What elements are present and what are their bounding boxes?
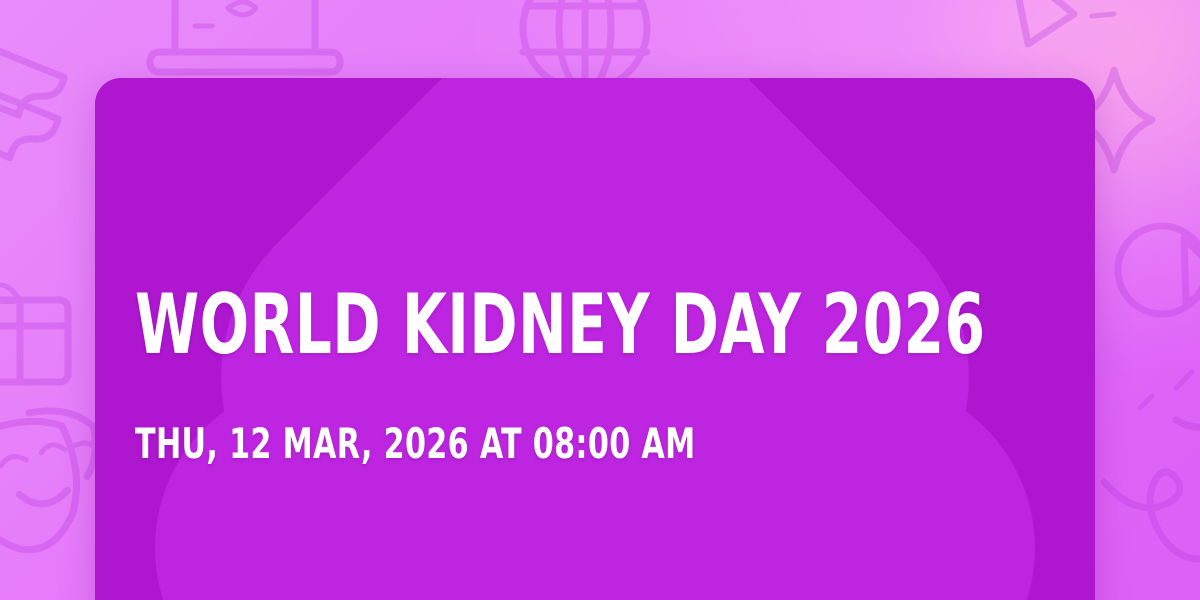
event-banner: World Kidney Day 2026 Thu, 12 Mar, 2026 … [0,0,1200,600]
event-datetime: Thu, 12 Mar, 2026 at 08:00 AM [135,423,696,465]
event-card-content: World Kidney Day 2026 Thu, 12 Mar, 2026 … [135,78,1055,600]
event-title: World Kidney Day 2026 [135,283,985,366]
event-card[interactable]: World Kidney Day 2026 Thu, 12 Mar, 2026 … [95,78,1095,600]
